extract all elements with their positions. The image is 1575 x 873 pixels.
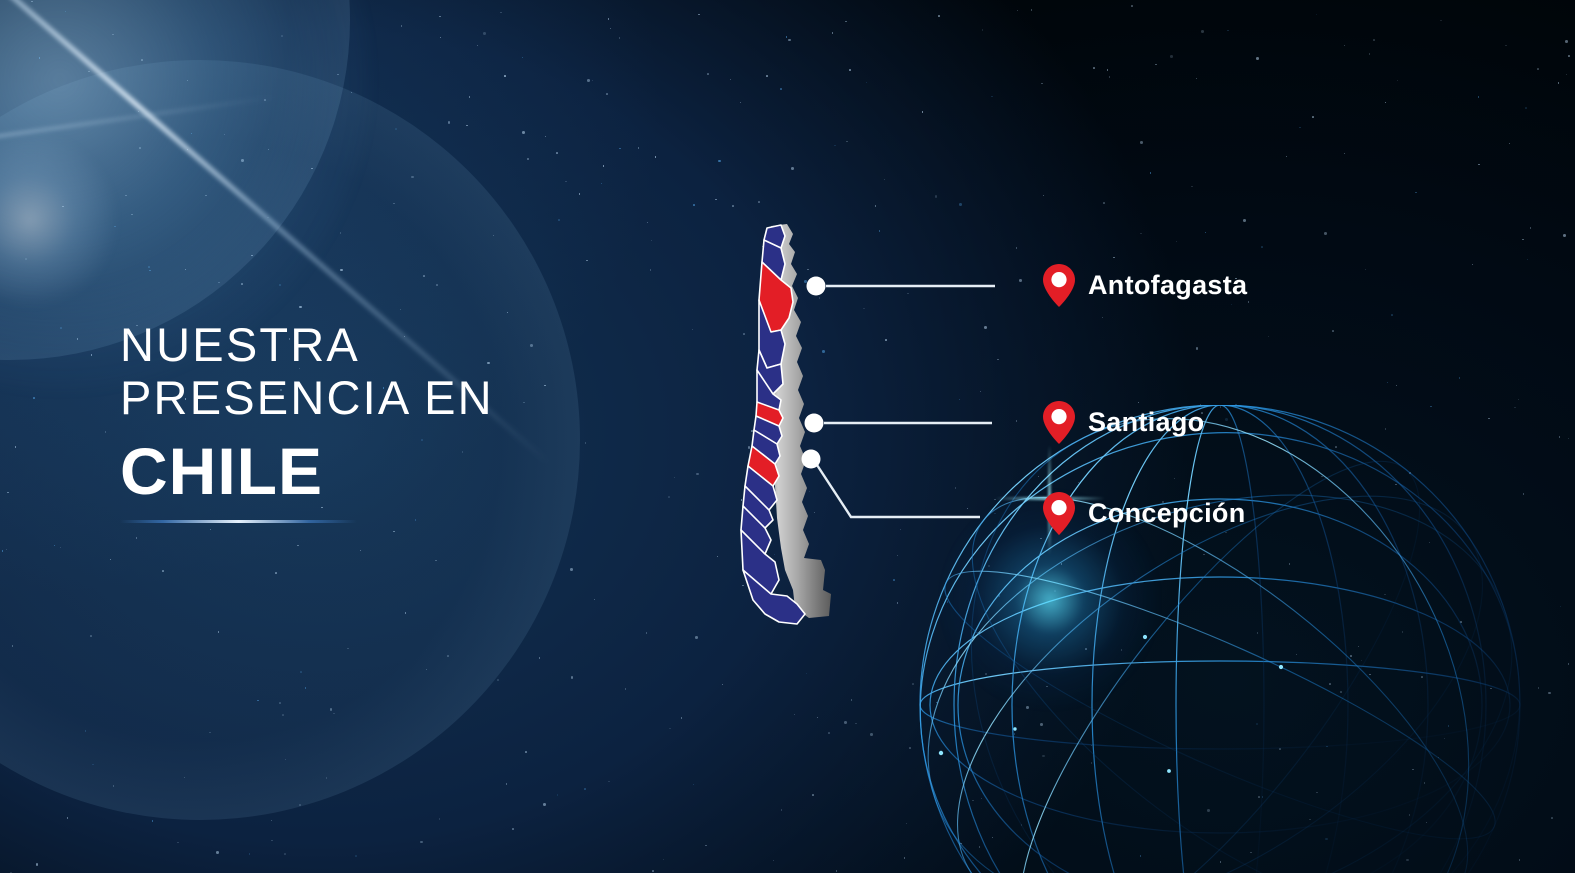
city-name-santiago: Santiago [1088,407,1204,438]
title-highlight-chile: CHILE [120,434,640,508]
city-label-santiago[interactable]: Santiago [1042,400,1204,445]
city-name-antofagasta: Antofagasta [1088,270,1247,301]
chile-map [735,218,855,643]
map-pin-icon [1042,263,1076,308]
city-label-concepcion[interactable]: Concepción [1042,491,1246,536]
title-underline-rule [120,520,357,523]
title-line-2: PRESENCIA EN [120,371,640,424]
wireframe-globe [845,405,1575,873]
title-line-1: NUESTRA [120,318,640,371]
page-title: NUESTRA PRESENCIA EN CHILE [120,318,640,523]
map-pin-icon [1042,400,1076,445]
presence-map-slide: NUESTRA PRESENCIA EN CHILE [0,0,1575,873]
city-label-antofagasta[interactable]: Antofagasta [1042,263,1247,308]
map-pin-icon [1042,491,1076,536]
city-name-concepcion: Concepción [1088,498,1246,529]
